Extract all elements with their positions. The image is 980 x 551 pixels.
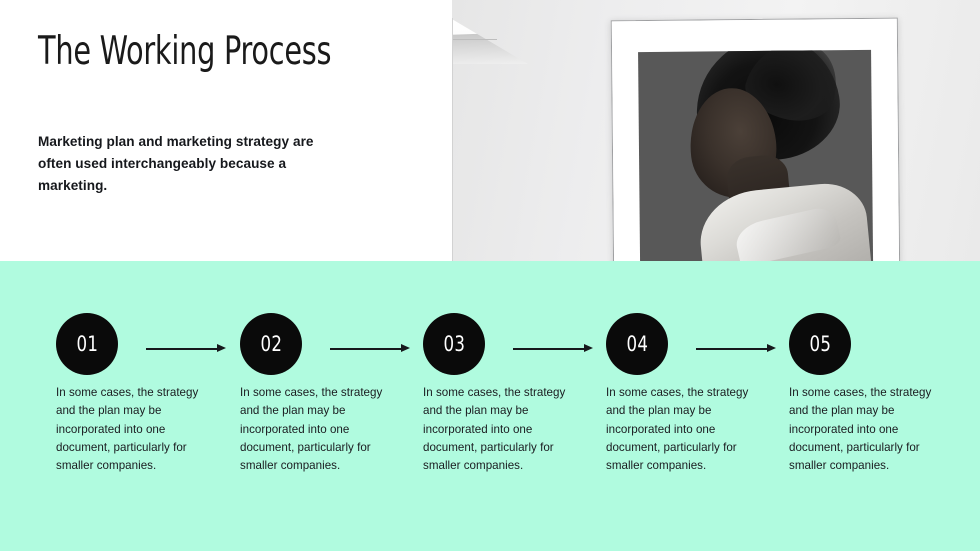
- step-badge-03: 03: [423, 313, 485, 375]
- slide-header-area: The Working Process Marketing plan and m…: [0, 0, 980, 261]
- wall-edge: [452, 18, 453, 261]
- step-number-03: 03: [443, 332, 465, 356]
- gallery-photo: [452, 0, 980, 261]
- step-badge-02: 02: [240, 313, 302, 375]
- wall-corner-line: [452, 39, 497, 40]
- title-panel: The Working Process Marketing plan and m…: [0, 0, 452, 261]
- step-description-01: In some cases, the strategy and the plan…: [56, 384, 208, 476]
- arrow-line: [146, 348, 218, 350]
- process-step-02[interactable]: 02 In some cases, the strategy and the p…: [240, 313, 415, 476]
- process-step-01[interactable]: 01 In some cases, the strategy and the p…: [56, 313, 231, 476]
- arrow-line: [513, 348, 585, 350]
- step-description-03: In some cases, the strategy and the plan…: [423, 384, 575, 476]
- step-number-04: 04: [626, 332, 648, 356]
- process-step-03[interactable]: 03 In some cases, the strategy and the p…: [423, 313, 598, 476]
- process-step-04[interactable]: 04 In some cases, the strategy and the p…: [606, 313, 781, 476]
- step-description-02: In some cases, the strategy and the plan…: [240, 384, 392, 476]
- arrow-head: [584, 344, 593, 352]
- arrow-2-to-3-icon: [330, 344, 410, 353]
- process-step-05[interactable]: 05 In some cases, the strategy and the p…: [789, 313, 964, 476]
- arrow-4-to-5-icon: [696, 344, 776, 353]
- step-number-01: 01: [76, 332, 98, 356]
- picture-frame: [611, 18, 901, 261]
- arrow-3-to-4-icon: [513, 344, 593, 353]
- step-badge-04: 04: [606, 313, 668, 375]
- portrait-artwork: [638, 50, 873, 261]
- step-description-05: In some cases, the strategy and the plan…: [789, 384, 941, 476]
- arrow-line: [330, 348, 402, 350]
- step-number-02: 02: [260, 332, 282, 356]
- process-band: 01 In some cases, the strategy and the p…: [0, 261, 980, 551]
- arrow-head: [217, 344, 226, 352]
- arrow-head: [401, 344, 410, 352]
- step-badge-05: 05: [789, 313, 851, 375]
- step-badge-01: 01: [56, 313, 118, 375]
- process-steps: 01 In some cases, the strategy and the p…: [0, 261, 980, 551]
- step-number-05: 05: [809, 332, 831, 356]
- step-description-04: In some cases, the strategy and the plan…: [606, 384, 758, 476]
- slide-subtitle: Marketing plan and marketing strategy ar…: [38, 131, 348, 197]
- page-title: The Working Process: [38, 31, 331, 73]
- arrow-line: [696, 348, 768, 350]
- arrow-head: [767, 344, 776, 352]
- arrow-1-to-2-icon: [146, 344, 226, 353]
- slide: The Working Process Marketing plan and m…: [0, 0, 980, 551]
